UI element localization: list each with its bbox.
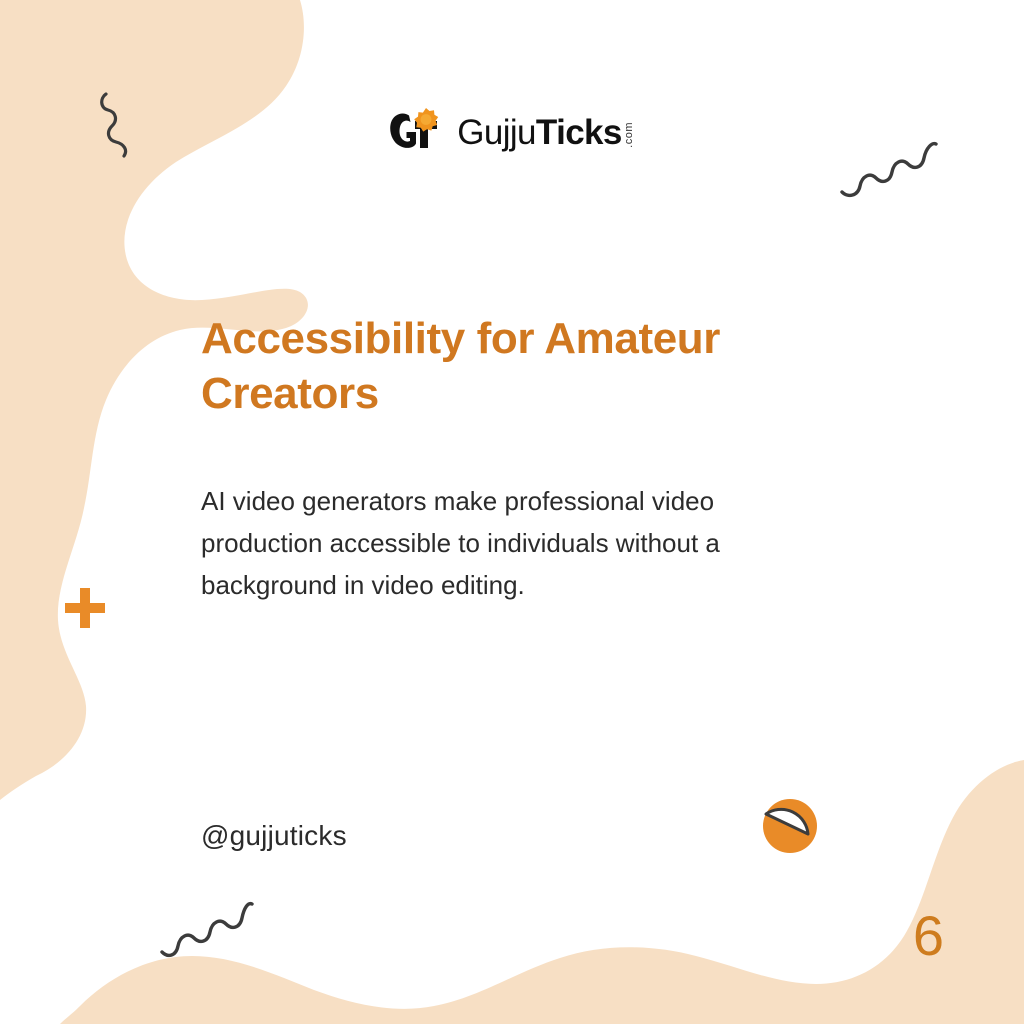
gt-monogram-sunburst-icon (389, 108, 443, 156)
social-handle[interactable]: @gujjuticks (201, 820, 347, 852)
logo-word-secondary: Ticks (536, 115, 622, 150)
page-number: 6 (913, 908, 944, 964)
brand-logo[interactable]: Gujju Ticks .com (0, 104, 1024, 160)
logo-tld: .com (624, 122, 635, 148)
blob-bottom-right-icon (60, 760, 1024, 1024)
logo-wordmark: Gujju Ticks .com (457, 115, 635, 150)
page-title: Accessibility for Amateur Creators (201, 312, 821, 421)
social-card: Gujju Ticks .com Accessibility for Amate… (0, 0, 1024, 1024)
body-text: AI video generators make professional vi… (201, 480, 831, 606)
circle-arc-icon (752, 780, 832, 860)
logo-word-primary: Gujju (457, 115, 536, 150)
plus-icon (62, 585, 108, 631)
squiggle-bottom-left-icon (156, 892, 254, 962)
